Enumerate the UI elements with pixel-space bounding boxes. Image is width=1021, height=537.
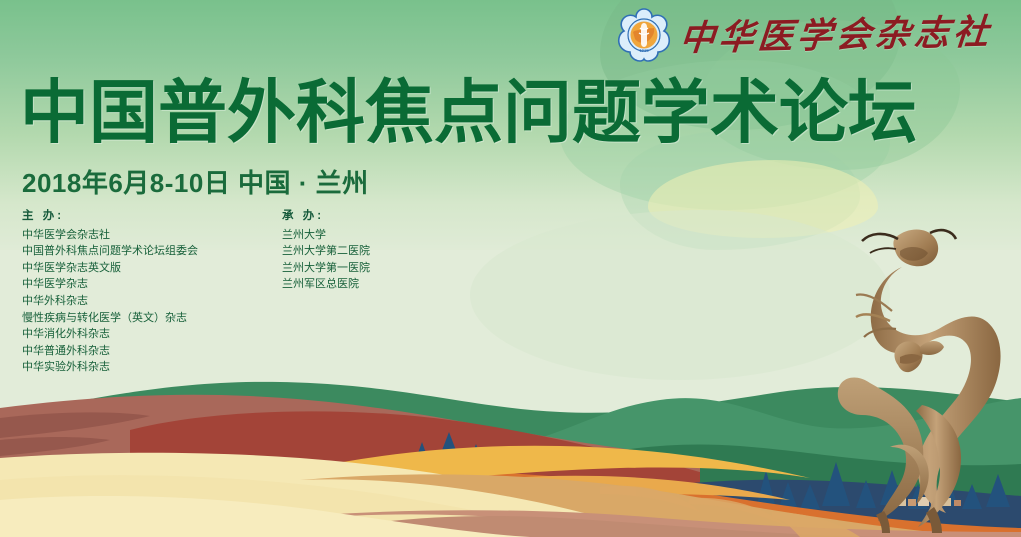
svg-text:1915: 1915 [639,48,649,53]
host-item: 中华医学会杂志社 [22,227,282,244]
conference-poster: 1915 中华医学会杂志社 中国普外科焦点问题学术论坛 2018年6月8-10日… [0,0,1021,537]
dune-scallop-highlights [600,486,860,537]
coorganizer-item: 兰州军区总医院 [282,276,522,293]
sculpture-horn-inner [870,248,896,253]
dune-gold [300,446,810,496]
dune-cream-right [0,475,600,537]
sculpture-horn-left [862,234,898,241]
host-heading: 主 办: [22,208,282,225]
host-item: 中华医学杂志 [22,276,282,293]
coorganizer-item: 兰州大学第一医院 [282,260,522,277]
cma-logo: 1915 中华医学会杂志社 [616,4,1016,66]
coorganizer-item: 兰州大学第二医院 [282,243,522,260]
coorganizer-heading: 承 办: [282,208,522,225]
dune-cream-sliver [0,496,530,537]
organizer-columns: 主 办: 中华医学会杂志社 中国普外科焦点问题学术论坛组委会 中华医学杂志英文版… [22,208,542,376]
coorganizer-column: 承 办: 兰州大学 兰州大学第二医院 兰州大学第一医院 兰州军区总医院 [282,208,522,293]
host-item: 中华消化外科杂志 [22,326,282,343]
hill-red-highlight [130,411,700,537]
sculpture-artwork [830,215,1021,537]
host-column: 主 办: 中华医学会杂志社 中国普外科焦点问题学术论坛组委会 中华医学杂志英文版… [22,208,282,376]
event-date-location: 2018年6月8-10日 中国 · 兰州 [22,163,369,200]
sculpture-main-curve [871,267,1001,513]
host-item: 中华医学杂志英文版 [22,260,282,277]
page-title: 中国普外科焦点问题学术论坛 [20,78,917,147]
host-item: 中华实验外科杂志 [22,359,282,376]
dune-rose-body [300,516,900,537]
hill-brown-shadow-streak-2 [0,437,110,456]
cma-calligraphy-text: 中华医学会杂志社 [678,14,994,56]
host-item: 慢性疾病与转化医学（英文）杂志 [22,310,282,327]
dune-cream-main [0,453,740,537]
dune-gold-lower [360,476,790,516]
coorganizer-item: 兰州大学 [282,227,522,244]
host-item: 中华外科杂志 [22,293,282,310]
host-item: 中华普通外科杂志 [22,343,282,360]
host-item: 中国普外科焦点问题学术论坛组委会 [22,243,282,260]
chinese-medical-association-emblem-icon: 1915 [616,7,672,63]
